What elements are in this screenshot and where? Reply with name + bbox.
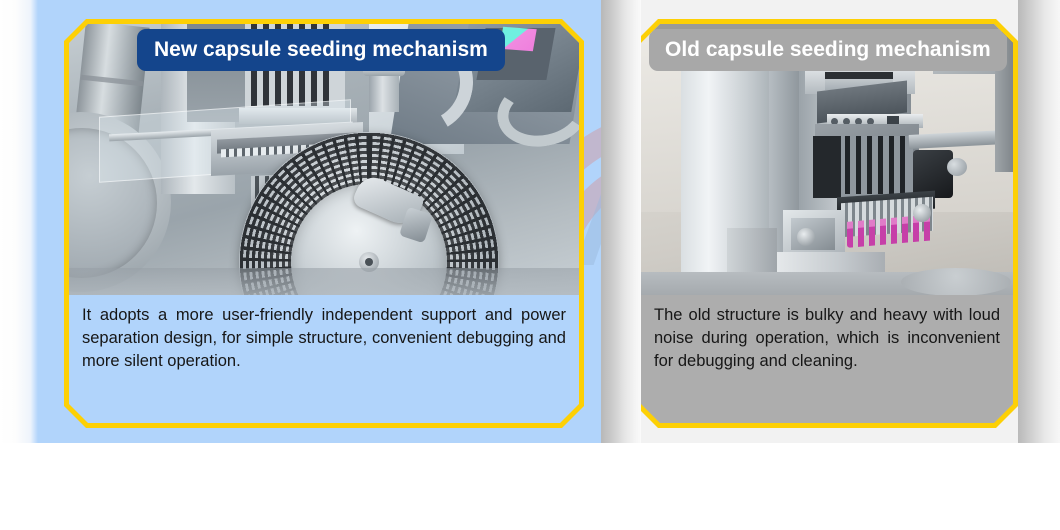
caption-old-mechanism: The old structure is bulky and heavy wit… bbox=[641, 295, 1013, 423]
title-text-old: Old capsule seeding mechanism bbox=[665, 38, 991, 62]
photo-new-capsule-seeding-mechanism: New capsule seeding mechanism bbox=[69, 24, 579, 295]
photo-old-capsule-seeding-mechanism: Old capsule seeding mechanism bbox=[641, 24, 1013, 295]
panel-new-mechanism: New capsule seeding mechanism It adopts … bbox=[64, 19, 584, 428]
title-text-new: New capsule seeding mechanism bbox=[154, 38, 488, 62]
caption-new-mechanism: It adopts a more user-friendly independe… bbox=[69, 295, 579, 423]
right-edge-fade bbox=[1018, 0, 1060, 443]
panel-divider bbox=[601, 0, 641, 443]
title-badge-new: New capsule seeding mechanism bbox=[137, 29, 505, 71]
left-background-fade bbox=[0, 0, 38, 443]
panel-old-inner: Old capsule seeding mechanism The old st… bbox=[641, 24, 1013, 423]
comparison-graphic: GRAM bbox=[0, 0, 1060, 443]
panel-old-mechanism: Old capsule seeding mechanism The old st… bbox=[636, 19, 1018, 428]
panel-new-inner: New capsule seeding mechanism It adopts … bbox=[69, 24, 579, 423]
title-badge-old: Old capsule seeding mechanism bbox=[649, 29, 1007, 71]
